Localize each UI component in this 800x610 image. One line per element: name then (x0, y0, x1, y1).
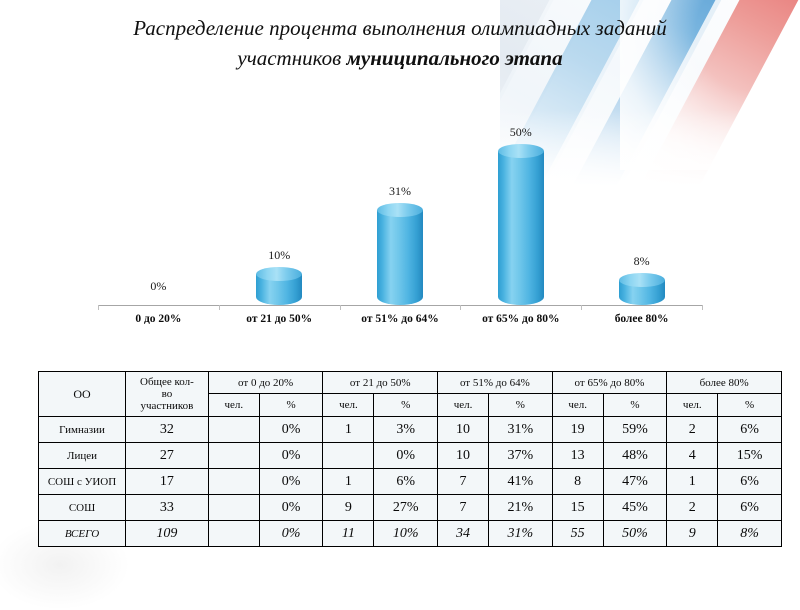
table-cell-3-8: 2 (667, 495, 718, 521)
bar-3[interactable] (498, 151, 544, 305)
table-cell-2-5: 41% (489, 469, 553, 495)
table-row-label: ВСЕГО (39, 521, 126, 547)
bar-1[interactable] (256, 274, 302, 305)
x-axis-label-1: от 21 до 50% (219, 313, 340, 325)
column-group-header-0: от 0 до 20% (208, 372, 323, 394)
chart-bar-group-1[interactable]: 10% (219, 105, 340, 305)
table-cell-4-0 (208, 521, 259, 547)
table-row: Гимназии320%13%1031%1959%26% (39, 417, 782, 443)
bar-4[interactable] (619, 280, 665, 305)
chart-bar-group-0[interactable]: 0% (98, 105, 219, 305)
table-cell-4-8: 9 (667, 521, 718, 547)
table-cell-4-7: 50% (603, 521, 667, 547)
table-cell-0-0 (208, 417, 259, 443)
chart-bar-group-3[interactable]: 50% (460, 105, 581, 305)
total-participants-line-3: участников (140, 400, 193, 412)
table-cell-1-3: 0% (374, 443, 438, 469)
bar-cylinder-top-4 (619, 273, 665, 287)
column-group-header-3: от 65% до 80% (552, 372, 667, 394)
table-cell-2-2: 1 (323, 469, 374, 495)
table-cell-2-9: 6% (718, 469, 782, 495)
table-cell-4-3: 10% (374, 521, 438, 547)
table-cell-4-4: 34 (438, 521, 489, 547)
table-cell-4-5: 31% (489, 521, 553, 547)
sub-header-percent-4: % (718, 394, 782, 417)
bar-value-label-2: 31% (365, 184, 435, 199)
chart-category-labels: 0 до 20% от 21 до 50% от 51% до 64% от 6… (98, 313, 702, 335)
chart-plot-area: 0% 10% 31% 50% 8% (98, 105, 702, 305)
sub-header-percent-1: % (374, 394, 438, 417)
table-cell-4-6: 55 (552, 521, 603, 547)
table-cell-3-2: 9 (323, 495, 374, 521)
table-cell-1-0 (208, 443, 259, 469)
table-cell-1-2 (323, 443, 374, 469)
chart-bar-group-2[interactable]: 31% (340, 105, 461, 305)
table-cell-total-participants: 109 (126, 521, 209, 547)
bar-cylinder-top-3 (498, 144, 544, 158)
table-cell-1-8: 4 (667, 443, 718, 469)
chart-bar-group-4[interactable]: 8% (581, 105, 702, 305)
table-cell-2-0 (208, 469, 259, 495)
title-line-1: Распределение процента выполнения олимпи… (133, 16, 667, 40)
bar-cylinder-1 (256, 274, 302, 305)
table-cell-2-1: 0% (259, 469, 323, 495)
table-cell-2-8: 1 (667, 469, 718, 495)
x-axis-label-4: более 80% (581, 313, 702, 325)
sub-header-percent-0: % (259, 394, 323, 417)
bar-cylinder-2 (377, 210, 423, 305)
table-row-label: Лицеи (39, 443, 126, 469)
table-cell-3-1: 0% (259, 495, 323, 521)
bar-cylinder-top-2 (377, 203, 423, 217)
total-participants-line-2: во (162, 388, 173, 400)
table-cell-0-9: 6% (718, 417, 782, 443)
table-cell-0-5: 31% (489, 417, 553, 443)
bar-cylinder-top-1 (256, 267, 302, 281)
x-axis-label-0: 0 до 20% (98, 313, 219, 325)
table-cell-1-6: 13 (552, 443, 603, 469)
sub-header-percent-3: % (603, 394, 667, 417)
table-row-label: Гимназии (39, 417, 126, 443)
table-cell-4-2: 11 (323, 521, 374, 547)
sub-header-people-2: чел. (438, 394, 489, 417)
bar-value-label-4: 8% (607, 254, 677, 269)
column-group-header-1: от 21 до 50% (323, 372, 438, 394)
x-axis-label-3: от 65% до 80% (460, 313, 581, 325)
column-group-header-2: от 51% до 64% (438, 372, 553, 394)
bar-cylinder-3 (498, 151, 544, 305)
table-cell-3-7: 45% (603, 495, 667, 521)
table-cell-1-9: 15% (718, 443, 782, 469)
table-cell-0-6: 19 (552, 417, 603, 443)
table-cell-4-9: 8% (718, 521, 782, 547)
title-line-2-regular: участников (237, 46, 346, 70)
bar-cylinder-4 (619, 280, 665, 305)
table-row: СОШ330%927%721%1545%26% (39, 495, 782, 521)
total-participants-line-1: Общее кол- (140, 376, 194, 388)
table-row-label: СОШ (39, 495, 126, 521)
x-axis-tick-5 (702, 305, 703, 310)
table-cell-0-3: 3% (374, 417, 438, 443)
table-cell-2-4: 7 (438, 469, 489, 495)
table-cell-3-5: 21% (489, 495, 553, 521)
chart-x-axis-line (98, 305, 702, 306)
table-cell-1-7: 48% (603, 443, 667, 469)
table-header: ОО Общее кол- во участников от 0 до 20% … (39, 372, 782, 417)
sub-header-people-4: чел. (667, 394, 718, 417)
table-cell-2-7: 47% (603, 469, 667, 495)
bar-chart: 0% 10% 31% 50% 8% (0, 105, 800, 340)
bar-value-label-0: 0% (123, 279, 193, 294)
table-row: Лицеи270%0%1037%1348%415% (39, 443, 782, 469)
bar-2[interactable] (377, 210, 423, 305)
table-cell-total-participants: 27 (126, 443, 209, 469)
table-row: СОШ с УИОП170%16%741%847%16% (39, 469, 782, 495)
x-axis-tick-4 (581, 305, 582, 310)
page-title: Распределение процента выполнения олимпи… (40, 14, 760, 74)
table-row-label: СОШ с УИОП (39, 469, 126, 495)
column-header-total-participants: Общее кол- во участников (126, 372, 209, 417)
table-cell-0-1: 0% (259, 417, 323, 443)
table-cell-3-3: 27% (374, 495, 438, 521)
table-cell-2-6: 8 (552, 469, 603, 495)
table-cell-0-2: 1 (323, 417, 374, 443)
table-row: ВСЕГО1090%1110%3431%5550%98% (39, 521, 782, 547)
title-line-2-bold: муниципального этапа (347, 46, 563, 70)
table-cell-3-0 (208, 495, 259, 521)
sub-header-people-0: чел. (208, 394, 259, 417)
x-axis-tick-2 (340, 305, 341, 310)
distribution-table: ОО Общее кол- во участников от 0 до 20% … (38, 371, 782, 547)
sub-header-people-3: чел. (552, 394, 603, 417)
table-cell-3-6: 15 (552, 495, 603, 521)
sub-header-percent-2: % (489, 394, 553, 417)
table-cell-3-9: 6% (718, 495, 782, 521)
x-axis-tick-3 (460, 305, 461, 310)
table-cell-0-8: 2 (667, 417, 718, 443)
column-header-oo: ОО (39, 372, 126, 417)
table-cell-4-1: 0% (259, 521, 323, 547)
table-cell-total-participants: 17 (126, 469, 209, 495)
table-cell-total-participants: 33 (126, 495, 209, 521)
table-cell-1-4: 10 (438, 443, 489, 469)
x-axis-tick-1 (219, 305, 220, 310)
table-cell-0-7: 59% (603, 417, 667, 443)
bar-value-label-1: 10% (244, 248, 314, 263)
table-body: Гимназии320%13%1031%1959%26%Лицеи270%0%1… (39, 417, 782, 547)
bar-value-label-3: 50% (486, 125, 556, 140)
table-cell-1-1: 0% (259, 443, 323, 469)
column-group-header-4: более 80% (667, 372, 782, 394)
table-cell-1-5: 37% (489, 443, 553, 469)
table-header-row-groups: ОО Общее кол- во участников от 0 до 20% … (39, 372, 782, 394)
sub-header-people-1: чел. (323, 394, 374, 417)
x-axis-label-2: от 51% до 64% (340, 313, 461, 325)
table-cell-0-4: 10 (438, 417, 489, 443)
table-cell-2-3: 6% (374, 469, 438, 495)
table-cell-3-4: 7 (438, 495, 489, 521)
x-axis-tick-0 (98, 305, 99, 310)
table-cell-total-participants: 32 (126, 417, 209, 443)
